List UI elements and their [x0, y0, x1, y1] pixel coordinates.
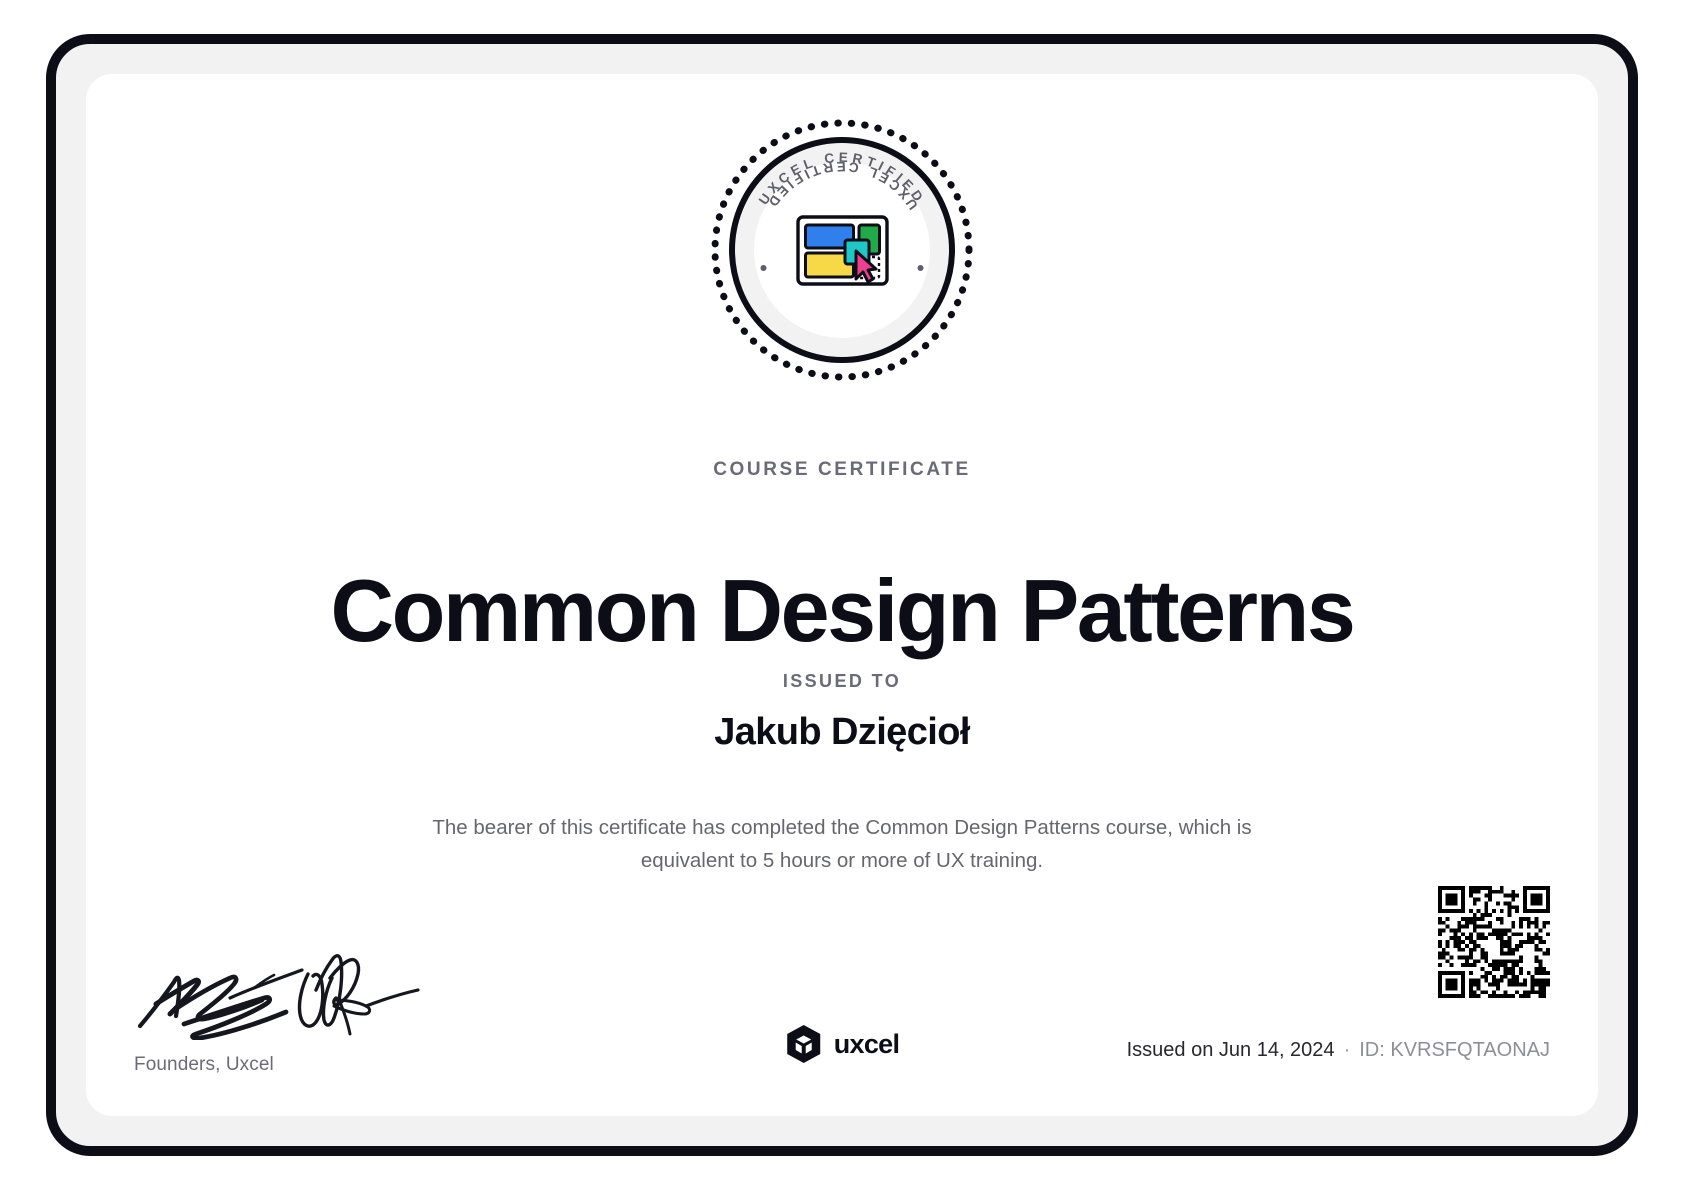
qr-code-canvas: [1438, 886, 1550, 998]
certificate-meta: Issued on Jun 14, 2024·ID: KVRSFQTAONAJ: [1127, 1039, 1550, 1062]
issued-to-label: ISSUED TO: [86, 671, 1598, 692]
badge-dot-separator-left: [761, 265, 767, 271]
badge-dot-separator-right: [918, 265, 924, 271]
uxcel-logo-icon: [785, 1024, 823, 1064]
meta-separator: ·: [1335, 1039, 1360, 1061]
signature-caption: Founders, Uxcel: [134, 1054, 464, 1076]
certified-badge: UXCEL CERTIFIED UXCEL CERTIFIED: [708, 116, 976, 384]
course-title: Common Design Patterns: [86, 565, 1598, 657]
signature-block: Founders, Uxcel: [134, 948, 464, 1076]
certificate-card: UXCEL CERTIFIED UXCEL CERTIFIED: [86, 74, 1598, 1116]
uxcel-brand-name: uxcel: [834, 1029, 900, 1060]
layout-patterns-icon: [798, 217, 887, 284]
recipient-name: Jakub Dzięcioł: [86, 711, 1598, 754]
certificate-frame: UXCEL CERTIFIED UXCEL CERTIFIED: [46, 34, 1638, 1156]
verification-qr-code[interactable]: [1438, 886, 1550, 998]
certificate-type-label: COURSE CERTIFICATE: [86, 459, 1598, 481]
badge-seal-graphic: UXCEL CERTIFIED UXCEL CERTIFIED: [708, 116, 976, 384]
certificate-id: ID: KVRSFQTAONAJ: [1359, 1039, 1550, 1061]
uxcel-brand: uxcel: [785, 1024, 900, 1064]
issue-date: Issued on Jun 14, 2024: [1127, 1039, 1335, 1061]
founders-signature-icon: [134, 948, 434, 1040]
certificate-description: The bearer of this certificate has compl…: [422, 811, 1262, 877]
